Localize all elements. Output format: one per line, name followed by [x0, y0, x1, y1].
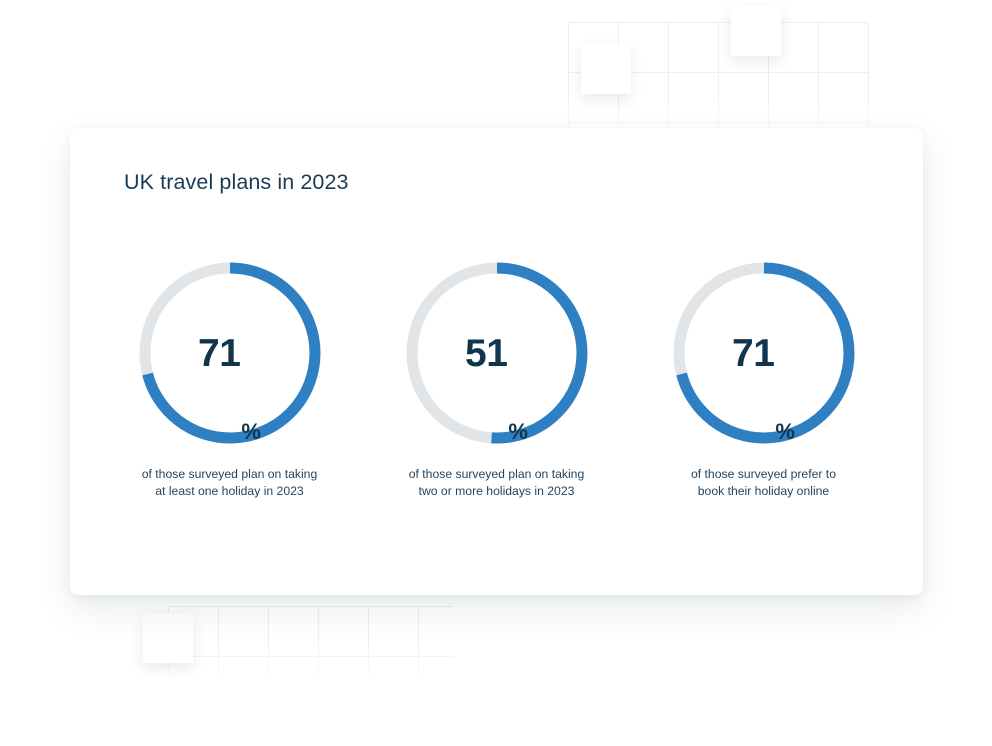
- infographic-canvas: UK travel plans in 2023 71 % of those su…: [0, 0, 992, 746]
- donut-chart-3: 71 %: [671, 260, 857, 446]
- donut-number-1: 71: [198, 334, 240, 373]
- stat-caption-3: of those surveyed prefer to book their h…: [691, 466, 836, 501]
- donut-value-1: 71 %: [137, 260, 323, 446]
- donut-value-3: 71 %: [671, 260, 857, 446]
- stat-item: 71 % of those surveyed prefer to book th…: [630, 260, 897, 501]
- background-raised-tile-3: [143, 613, 193, 663]
- donut-percent-symbol-1: %: [241, 421, 261, 446]
- donut-chart-2: 51 %: [404, 260, 590, 446]
- donut-number-2: 51: [465, 334, 507, 373]
- background-raised-tile-1: [731, 6, 781, 56]
- stat-caption-2: of those surveyed plan on taking two or …: [409, 466, 584, 501]
- background-raised-tile-2: [581, 44, 631, 94]
- stat-item: 71 % of those surveyed plan on taking at…: [96, 260, 363, 501]
- stat-caption-3-line-2: book their holiday online: [698, 484, 829, 498]
- page-title: UK travel plans in 2023: [124, 170, 349, 195]
- stat-caption-1-line-2: at least one holiday in 2023: [155, 484, 303, 498]
- donut-value-2: 51 %: [404, 260, 590, 446]
- stat-caption-1-line-1: of those surveyed plan on taking: [142, 467, 317, 481]
- background-grid-bottom-left: [168, 606, 453, 688]
- donut-chart-row: 71 % of those surveyed plan on taking at…: [70, 260, 923, 501]
- donut-percent-symbol-2: %: [508, 421, 528, 446]
- stat-caption-2-line-1: of those surveyed plan on taking: [409, 467, 584, 481]
- stat-item: 51 % of those surveyed plan on taking tw…: [363, 260, 630, 501]
- stat-caption-3-line-1: of those surveyed prefer to: [691, 467, 836, 481]
- donut-chart-1: 71 %: [137, 260, 323, 446]
- stat-caption-1: of those surveyed plan on taking at leas…: [142, 466, 317, 501]
- stats-card: UK travel plans in 2023 71 % of those su…: [70, 128, 923, 595]
- stat-caption-2-line-2: two or more holidays in 2023: [419, 484, 575, 498]
- donut-percent-symbol-3: %: [775, 421, 795, 446]
- donut-number-3: 71: [732, 334, 774, 373]
